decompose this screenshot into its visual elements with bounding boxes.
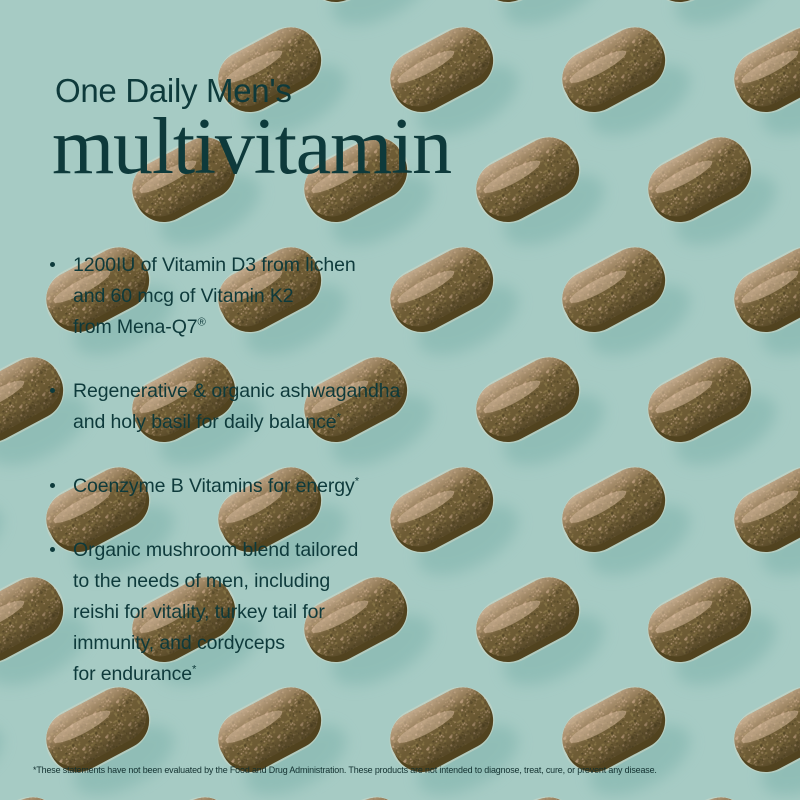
benefit-bullet: Coenzyme B Vitamins for energy*: [46, 471, 516, 502]
benefit-bullet-line: to the needs of men, including: [73, 566, 516, 597]
benefit-bullet-line: reishi for vitality, turkey tail for: [73, 597, 516, 628]
footnote-marker: *: [336, 412, 340, 424]
benefit-bullet-line: Regenerative & organic ashwagandha: [73, 376, 516, 407]
bullet-dot-icon: [50, 388, 55, 393]
product-wordmark: multivitamin: [52, 104, 451, 190]
benefit-bullet: 1200IU of Vitamin D3 from lichenand 60 m…: [46, 250, 516, 343]
benefit-bullet-line: and holy basil for daily balance*: [73, 407, 516, 438]
footnote-marker: ®: [198, 317, 206, 329]
benefit-bullet-line: immunity, and cordyceps: [73, 628, 516, 659]
benefit-bullet-line: for endurance*: [73, 659, 516, 690]
benefit-bullet: Regenerative & organic ashwagandhaand ho…: [46, 376, 516, 438]
product-marketing-card: One Daily Men's multivitamin 1200IU of V…: [0, 0, 800, 800]
benefit-bullet-line: Organic mushroom blend tailored: [73, 535, 516, 566]
copy-block: One Daily Men's multivitamin 1200IU of V…: [0, 0, 800, 800]
benefit-bullet-list: 1200IU of Vitamin D3 from lichenand 60 m…: [46, 250, 516, 690]
benefit-bullet-line: from Mena-Q7®: [73, 312, 516, 343]
benefit-bullet-line: and 60 mcg of Vitamin K2: [73, 281, 516, 312]
footnote-marker: *: [192, 664, 196, 676]
benefit-bullet: Organic mushroom blend tailoredto the ne…: [46, 535, 516, 690]
benefit-bullet-line: Coenzyme B Vitamins for energy*: [73, 471, 516, 502]
footnote-marker: *: [355, 476, 359, 488]
bullet-dot-icon: [50, 262, 55, 267]
bullet-dot-icon: [50, 547, 55, 552]
benefit-bullet-line: 1200IU of Vitamin D3 from lichen: [73, 250, 516, 281]
bullet-dot-icon: [50, 483, 55, 488]
